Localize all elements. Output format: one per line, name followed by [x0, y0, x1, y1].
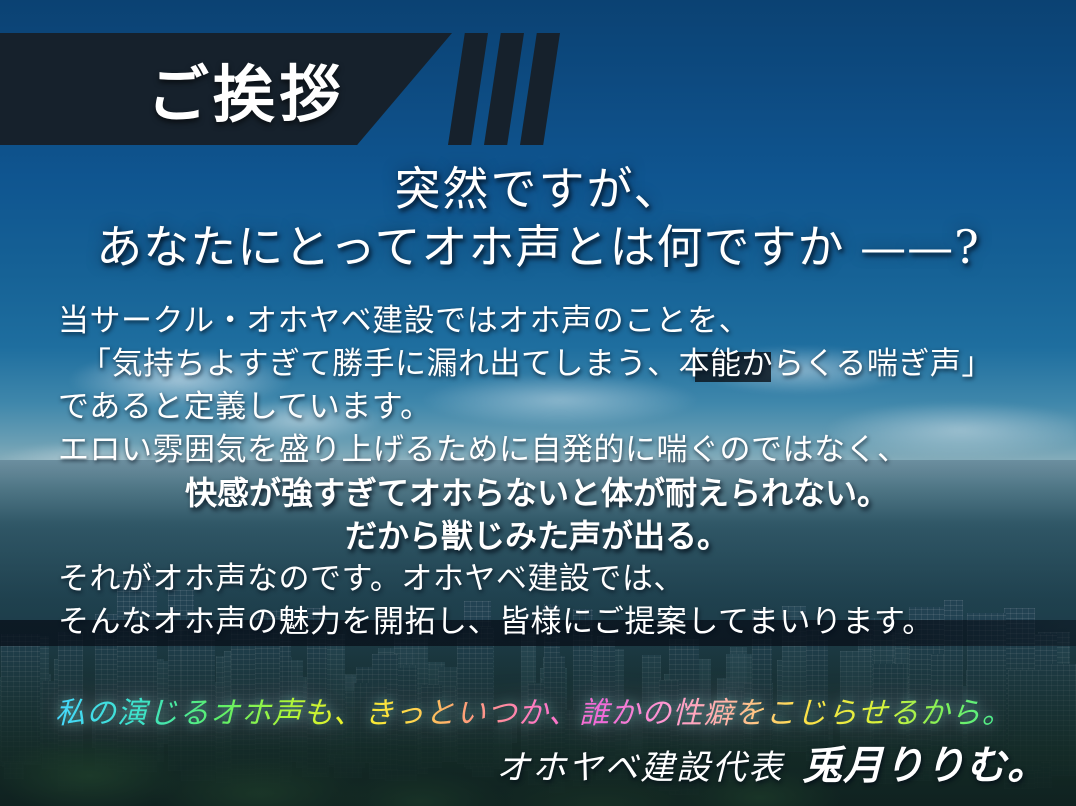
body-paragraph: 当サークル・オホヤベ建設ではオホ声のことを、「気持ちよすぎて勝手に漏れ出てしまう… — [58, 300, 1046, 644]
neon-tagline: 私の演じるオホ声も、きっといつか、誰かの性癖をこじらせるから。 — [55, 688, 1013, 732]
body-line-emphasis: 快感が強すぎてオホらないと体が耐えられない。 — [58, 472, 1046, 515]
body-line: 「気持ちよすぎて勝手に漏れ出てしまう、本能からくる喘ぎ声」 — [58, 343, 1046, 386]
signature: オホヤベ建設代表兎月りりむ。 — [496, 733, 1048, 791]
slide-root: ご挨拶 突然ですが、 あなたにとってオホ声とは何ですか ——? 当サークル・オホ… — [0, 0, 1076, 806]
headline-line-2: あなたにとってオホ声とは何ですか ——? — [0, 220, 1076, 274]
signature-role: オホヤベ建設代表 — [496, 748, 784, 788]
body-line: それがオホ声なのです。オホヤベ建設では、 — [58, 558, 1046, 601]
body-line-emphasis: だから獣じみた声が出る。 — [58, 515, 1046, 558]
headline: 突然ですが、 あなたにとってオホ声とは何ですか ——? — [0, 162, 1076, 275]
content-area: 突然ですが、 あなたにとってオホ声とは何ですか ——? 当サークル・オホヤベ建設… — [0, 0, 1076, 806]
headline-line-1: 突然ですが、 — [0, 162, 1076, 216]
signature-name: 兎月りりむ。 — [802, 742, 1048, 789]
body-line: であると定義しています。 — [58, 386, 1046, 429]
body-line: エロい雰囲気を盛り上げるために自発的に喘ぐのではなく、 — [58, 429, 1046, 472]
body-line: そんなオホ声の魅力を開拓し、皆様にご提案してまいります。 — [58, 601, 1046, 644]
body-line: 当サークル・オホヤベ建設ではオホ声のことを、 — [58, 300, 1046, 343]
